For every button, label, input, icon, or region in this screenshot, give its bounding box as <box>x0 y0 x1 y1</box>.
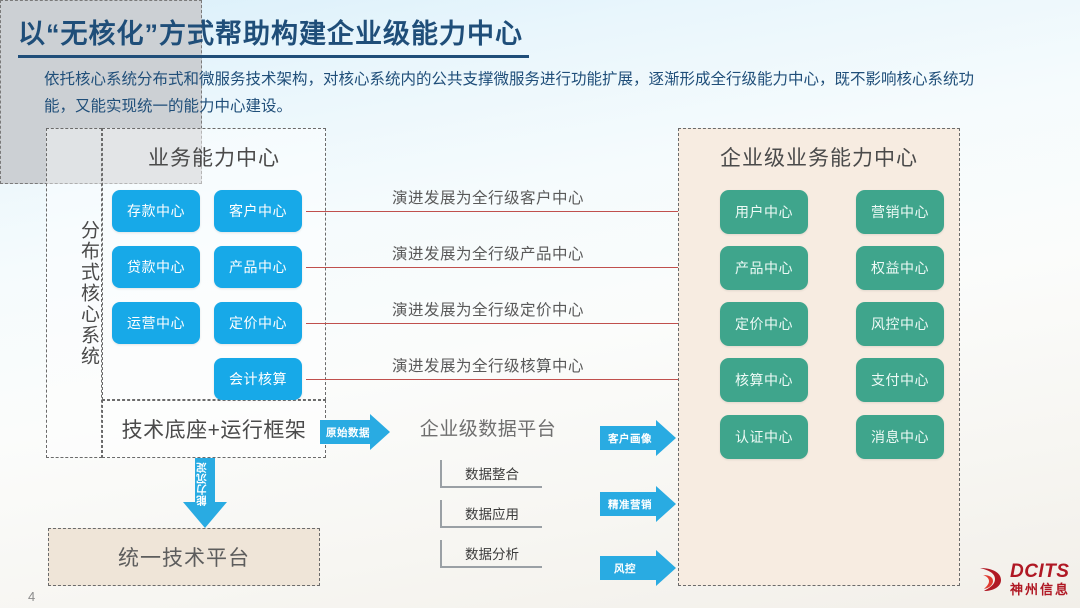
logo-text-en: DCITS <box>1010 562 1070 581</box>
gchip-auth-center[interactable]: 认证中心 <box>720 415 808 459</box>
business-capability-title: 业务能力中心 <box>102 142 326 172</box>
core-system-label: 分布式核心系统 <box>47 198 101 388</box>
gchip-user-center[interactable]: 用户中心 <box>720 190 808 234</box>
core-system-container: 分布式核心系统 <box>46 128 102 458</box>
evolution-line-1 <box>306 211 712 212</box>
gchip-accounting-center[interactable]: 核算中心 <box>720 358 808 402</box>
output-label-customer-profile: 客户画像 <box>608 431 652 446</box>
output-arrow-precision-marketing: 精准营销 <box>600 486 688 522</box>
logo-text-cn: 神州信息 <box>1010 583 1070 596</box>
company-logo: DCITS 神州信息 <box>975 562 1070 596</box>
data-platform-item-integration[interactable]: 数据整合 <box>440 460 542 488</box>
enterprise-capability-title: 企业级业务能力中心 <box>678 142 960 172</box>
raw-data-arrow: 原始数据 <box>320 412 396 452</box>
data-platform-item-application[interactable]: 数据应用 <box>440 500 542 528</box>
gchip-pricing-center[interactable]: 定价中心 <box>720 302 808 346</box>
evolution-label-4: 演进发展为全行级核算中心 <box>392 354 584 376</box>
gchip-message-center[interactable]: 消息中心 <box>856 415 944 459</box>
output-arrow-customer-profile: 客户画像 <box>600 420 688 456</box>
unified-platform-box: 统一技术平台 <box>48 528 320 586</box>
output-label-risk-control: 风控 <box>614 561 636 576</box>
gchip-product-center[interactable]: 产品中心 <box>720 246 808 290</box>
chip-product-center[interactable]: 产品中心 <box>214 246 302 288</box>
evolution-label-3: 演进发展为全行级定价中心 <box>392 298 584 320</box>
chip-accounting[interactable]: 会计核算 <box>214 358 302 400</box>
chip-deposit-center[interactable]: 存款中心 <box>112 190 200 232</box>
tech-base-box: 技术底座+运行框架 <box>102 400 326 458</box>
page-number: 4 <box>28 589 35 604</box>
chip-loan-center[interactable]: 贷款中心 <box>112 246 200 288</box>
raw-data-label: 原始数据 <box>326 425 370 440</box>
evolution-line-4 <box>306 379 712 380</box>
unified-platform-label: 统一技术平台 <box>49 542 319 572</box>
capability-precipitation-label: 能力沉淀 <box>194 462 216 506</box>
data-platform-item-analysis[interactable]: 数据分析 <box>440 540 542 568</box>
capability-precipitation-arrow: 能力沉淀 <box>183 458 227 530</box>
page-subtitle: 依托核心系统分布式和微服务技术架构，对核心系统内的公共支撑微服务进行功能扩展，逐… <box>44 66 984 120</box>
chip-customer-center[interactable]: 客户中心 <box>214 190 302 232</box>
evolution-line-3 <box>306 323 712 324</box>
output-label-precision-marketing: 精准营销 <box>608 497 652 512</box>
gchip-payment-center[interactable]: 支付中心 <box>856 358 944 402</box>
gchip-risk-center[interactable]: 风控中心 <box>856 302 944 346</box>
gchip-marketing-center[interactable]: 营销中心 <box>856 190 944 234</box>
data-platform-title: 企业级数据平台 <box>388 414 588 441</box>
gchip-rights-center[interactable]: 权益中心 <box>856 246 944 290</box>
chip-pricing-center[interactable]: 定价中心 <box>214 302 302 344</box>
dcits-mark-icon <box>975 564 1005 594</box>
evolution-label-2: 演进发展为全行级产品中心 <box>392 242 584 264</box>
evolution-line-2 <box>306 267 712 268</box>
chip-operation-center[interactable]: 运营中心 <box>112 302 200 344</box>
page-title: 以“无核化”方式帮助构建企业级能力中心 <box>18 12 529 58</box>
output-arrow-risk-control: 风控 <box>600 550 694 586</box>
evolution-label-1: 演进发展为全行级客户中心 <box>392 186 584 208</box>
tech-base-label: 技术底座+运行框架 <box>103 414 325 444</box>
